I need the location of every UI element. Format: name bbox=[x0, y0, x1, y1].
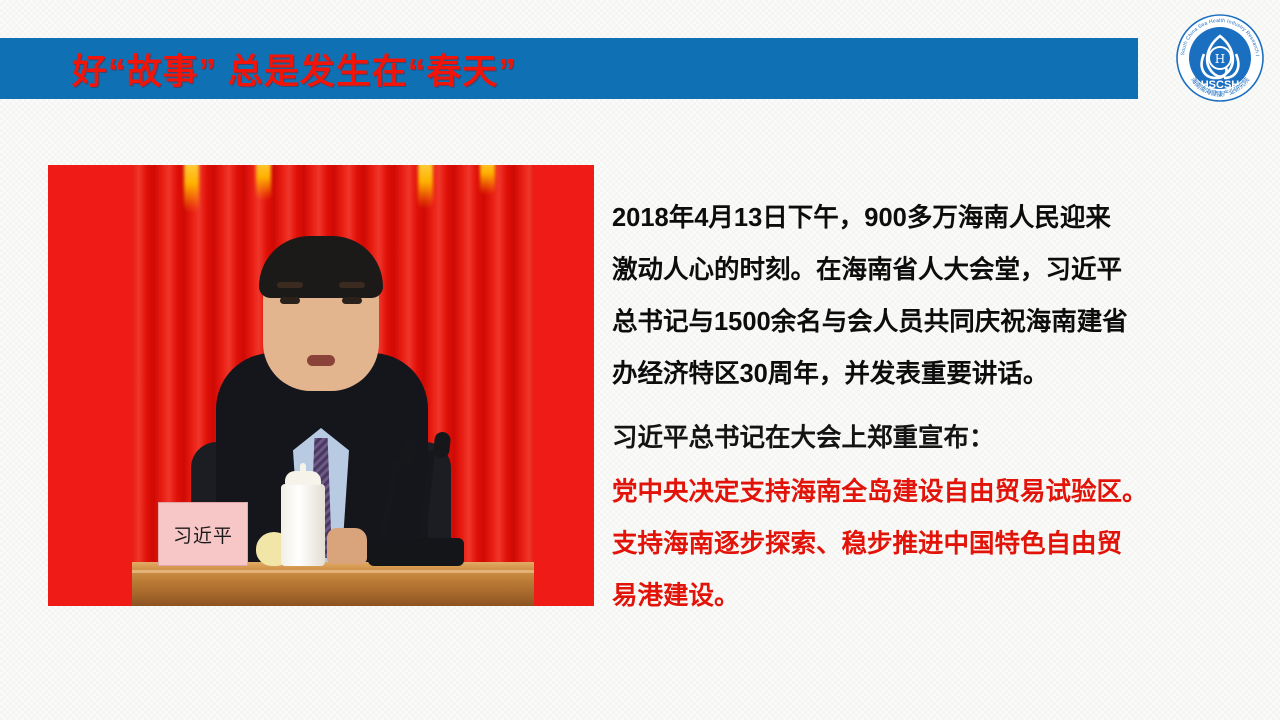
photo-mouth bbox=[307, 355, 335, 366]
photo-eyebrow bbox=[339, 282, 365, 288]
photo-lamp bbox=[480, 165, 495, 195]
paragraph-line: 激动人心的时刻。在海南省人大会堂，习近平 bbox=[612, 244, 1176, 296]
paragraph-line: 易港建设。 bbox=[612, 570, 1176, 622]
photo-eyebrow bbox=[277, 282, 303, 288]
paragraph-lead-in: 习近平总书记在大会上郑重宣布： bbox=[612, 412, 1176, 464]
photo-microphone-base bbox=[368, 538, 464, 566]
photo-eye bbox=[342, 297, 362, 304]
paragraph-intro: 2018年4月13日下午，900多万海南人民迎来 激动人心的时刻。在海南省人大会… bbox=[612, 192, 1176, 400]
photo-left-red-band bbox=[48, 165, 132, 606]
page-title: 好“故事” 总是发生在“春天” bbox=[72, 43, 517, 94]
paragraph-line: 支持海南逐步探索、稳步推进中国特色自由贸 bbox=[612, 518, 1176, 570]
photo-lamp bbox=[256, 165, 271, 201]
paragraph-line: 习近平总书记在大会上郑重宣布： bbox=[612, 412, 1176, 464]
paragraph-highlight: 党中央决定支持海南全岛建设自由贸易试验区。 支持海南逐步探索、稳步推进中国特色自… bbox=[612, 466, 1176, 622]
paragraph-line: 办经济特区30周年，并发表重要讲话。 bbox=[612, 348, 1176, 400]
paragraph-line: 党中央决定支持海南全岛建设自由贸易试验区。 bbox=[612, 466, 1176, 518]
photo-nameplate-text: 习近平 bbox=[173, 521, 233, 548]
slide-canvas: 好“故事” 总是发生在“春天” H HSCSH Hainan South Chi… bbox=[0, 0, 1280, 720]
title-banner: 好“故事” 总是发生在“春天” bbox=[0, 38, 1138, 99]
photo-right-red-band bbox=[534, 165, 594, 606]
photo-nameplate: 习近平 bbox=[158, 502, 248, 566]
photo-lamp bbox=[418, 165, 433, 209]
photo-eye bbox=[280, 297, 300, 304]
paragraph-line: 2018年4月13日下午，900多万海南人民迎来 bbox=[612, 192, 1176, 244]
body-text-column: 2018年4月13日下午，900多万海南人民迎来 激动人心的时刻。在海南省人大会… bbox=[612, 192, 1176, 622]
photo-hand bbox=[327, 528, 367, 564]
speech-photo: 习近平 bbox=[48, 165, 594, 606]
photo-teacup bbox=[281, 484, 325, 566]
paragraph-line: 总书记与1500余名与会人员共同庆祝海南建省 bbox=[612, 296, 1176, 348]
photo-lamp bbox=[184, 165, 199, 213]
institute-logo: H HSCSH Hainan South China Sea Health In… bbox=[1174, 12, 1266, 104]
svg-text:H: H bbox=[1215, 52, 1225, 66]
photo-podium-desk bbox=[132, 562, 534, 606]
